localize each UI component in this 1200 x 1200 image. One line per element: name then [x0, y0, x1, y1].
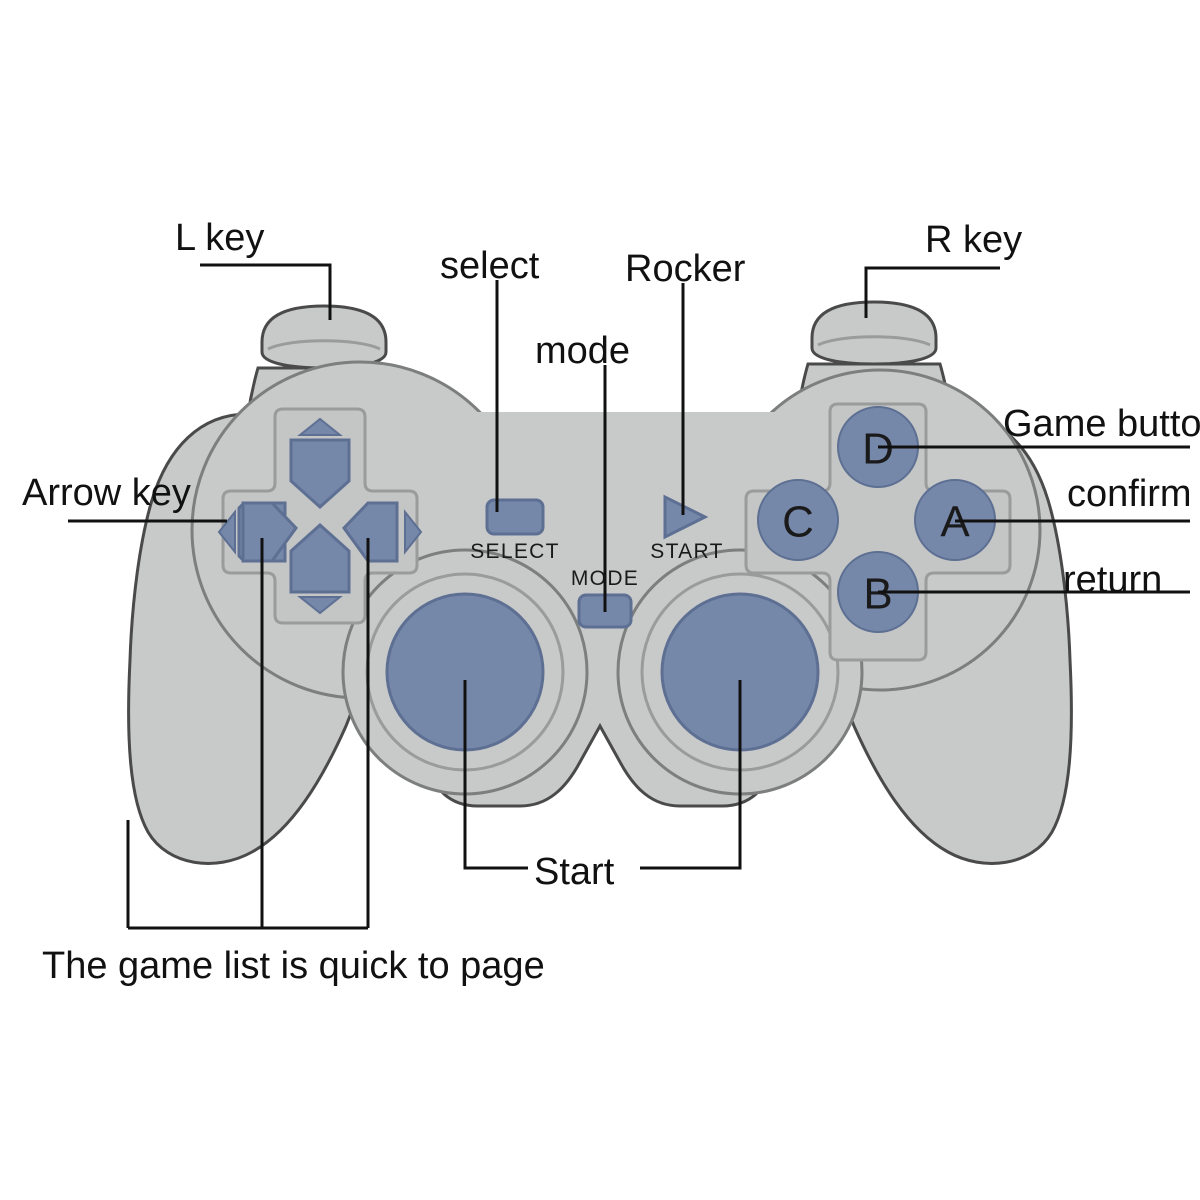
select-button[interactable] — [487, 500, 543, 534]
start-button-label: START — [650, 540, 723, 563]
callout-start: Start — [534, 851, 615, 893]
callout-r-key: R key — [925, 219, 1022, 261]
callout-game-list: The game list is quick to page — [42, 945, 545, 987]
callout-arrow-key: Arrow key — [22, 472, 191, 514]
callout-game-button: Game button — [1003, 403, 1200, 445]
callout-select: select — [440, 245, 540, 287]
callout-mode: mode — [535, 330, 630, 372]
callout-confirm: confirm — [1067, 473, 1192, 515]
callout-return: return — [1063, 559, 1162, 601]
d-button-label: D — [862, 425, 894, 474]
b-button-label: B — [863, 570, 892, 619]
select-button-label: SELECT — [470, 540, 560, 563]
controller-body-group: D C A B SELECT MODE START — [129, 302, 1072, 863]
callout-rocker: Rocker — [625, 248, 746, 290]
gamepad-diagram: D C A B SELECT MODE START — [0, 0, 1200, 1200]
diagram-canvas: D C A B SELECT MODE START — [0, 0, 1200, 1200]
c-button-label: C — [782, 498, 814, 547]
callout-l-key: L key — [175, 217, 264, 259]
